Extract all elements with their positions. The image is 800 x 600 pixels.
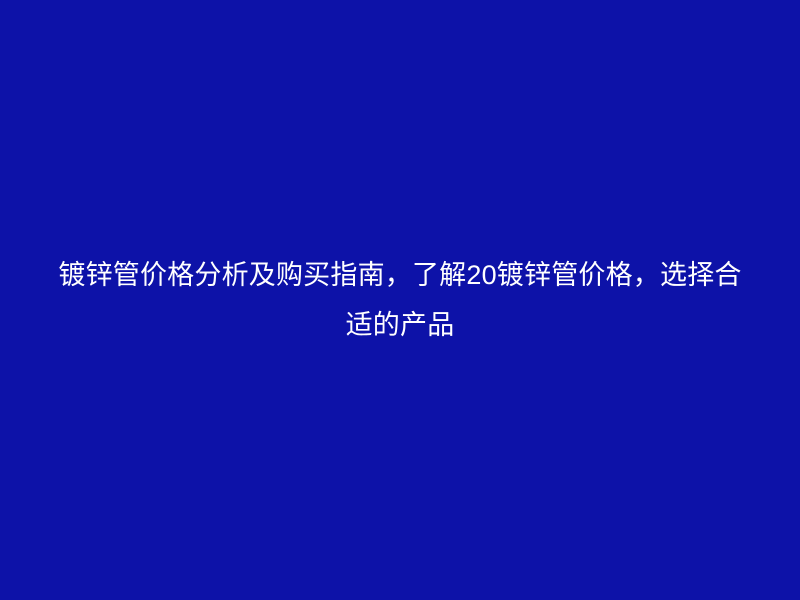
title-card: 镀锌管价格分析及购买指南，了解20镀锌管价格，选择合适的产品 xyxy=(0,0,800,600)
page-title: 镀锌管价格分析及购买指南，了解20镀锌管价格，选择合适的产品 xyxy=(48,250,752,350)
title-block: 镀锌管价格分析及购买指南，了解20镀锌管价格，选择合适的产品 xyxy=(0,250,800,350)
